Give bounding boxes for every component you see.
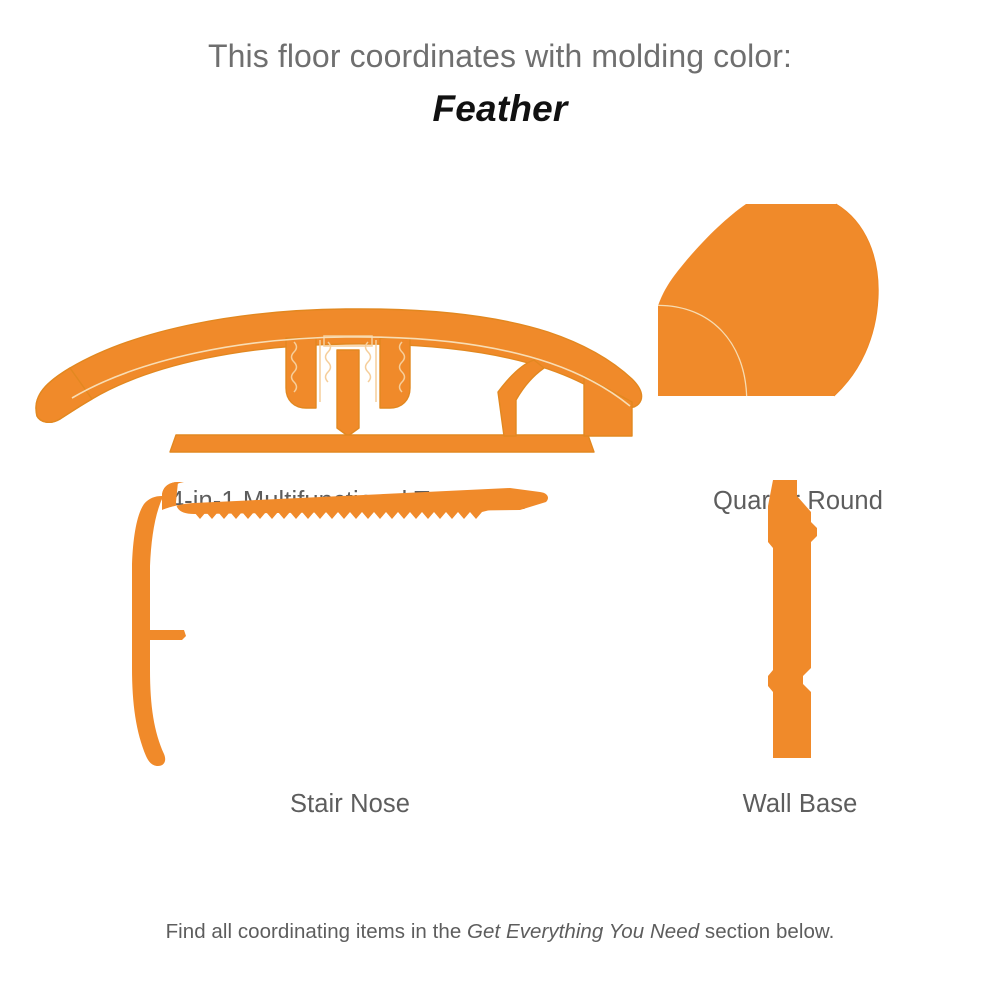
transition-profile-icon xyxy=(28,280,668,465)
stair-nose-artwork xyxy=(120,470,580,770)
product-grid: 4-in-1 Multifunctional Transition xyxy=(0,170,1000,890)
product-label-stair-nose: Stair Nose xyxy=(120,790,580,819)
product-stair-nose: Stair Nose xyxy=(120,470,580,819)
molding-color-name: Feather xyxy=(0,90,1000,129)
product-quarter-round: Quarter Round xyxy=(628,180,968,516)
page-title: This floor coordinates with molding colo… xyxy=(0,38,1000,76)
wall-base-profile-icon xyxy=(625,470,975,770)
product-label-wall-base: Wall Base xyxy=(625,790,975,819)
header: This floor coordinates with molding colo… xyxy=(0,0,1000,129)
product-wall-base: Wall Base xyxy=(625,470,975,819)
footer-tail: section below. xyxy=(699,920,834,943)
quarter-round-profile-icon xyxy=(628,180,968,465)
stair-nose-profile-icon xyxy=(120,470,580,770)
quarter-round-artwork xyxy=(628,180,968,465)
wall-base-artwork xyxy=(625,470,975,770)
footer-note: Find all coordinating items in the Get E… xyxy=(0,920,1000,944)
molding-coordination-card: This floor coordinates with molding colo… xyxy=(0,0,1000,1000)
footer-lead: Find all coordinating items in the xyxy=(166,920,467,943)
footer-emphasis: Get Everything You Need xyxy=(467,920,699,943)
transition-artwork xyxy=(28,280,668,465)
